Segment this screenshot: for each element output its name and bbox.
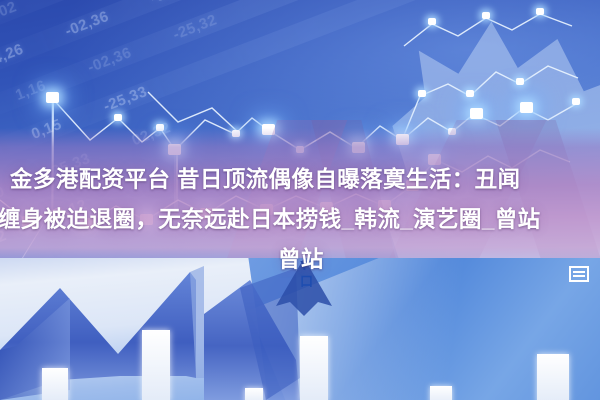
network-node xyxy=(418,90,426,97)
chart-bar xyxy=(245,388,263,400)
network-node xyxy=(466,90,474,97)
headline-line-1: 金多港配资平台 昔日顶流偶像自曝落寞生活：丑闻 xyxy=(10,160,590,200)
network-node xyxy=(428,18,436,25)
article-banner: -50,02-02,35 -50,35-11,29 2,05-11,29-45,… xyxy=(0,0,600,400)
network-node xyxy=(46,92,59,103)
network-node xyxy=(536,8,544,15)
headline-text: 金多港配资平台 昔日顶流偶像自曝落寞生活：丑闻 缠身被迫退圈，无奈远赴日本捞钱_… xyxy=(0,160,600,280)
network-node xyxy=(482,12,490,19)
chart-bar xyxy=(537,354,569,400)
chart-bar xyxy=(300,336,328,400)
network-node xyxy=(470,108,483,119)
network-node xyxy=(520,102,533,113)
chart-bar xyxy=(142,330,170,400)
headline-line-3: 曾站 xyxy=(278,240,590,280)
network-node xyxy=(572,98,580,105)
headline-line-2: 缠身被迫退圈，无奈远赴日本捞钱_韩流_演艺圈_曾站 xyxy=(0,200,590,240)
chart-bar xyxy=(430,386,452,400)
chart-bar xyxy=(42,368,68,400)
network-node xyxy=(516,78,524,85)
